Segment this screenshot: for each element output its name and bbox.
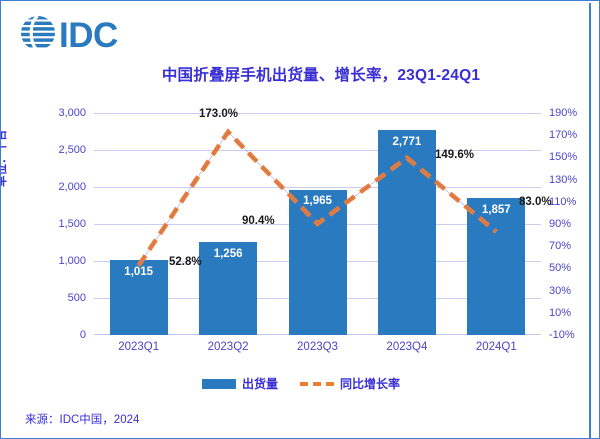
y2-tick-170: 170% xyxy=(549,129,599,141)
x-label-2023Q3: 2023Q3 xyxy=(273,341,363,353)
growth-label-2024Q1: 83.0% xyxy=(519,196,552,208)
legend-item-shipments[interactable]: 出货量 xyxy=(202,375,278,392)
x-label-2024Q1: 2024Q1 xyxy=(451,341,541,353)
legend-dashed-line-swatch-icon xyxy=(300,382,334,386)
plot-area: 1,015 1,256 1,965 2,771 1,857 52.8% 173.… xyxy=(94,113,541,335)
y2-tick-90: 90% xyxy=(549,218,599,230)
y2-tick-neg10: -10% xyxy=(549,329,599,341)
y2-tick-150: 150% xyxy=(549,151,599,163)
chart-page: IDC 中国折叠屏手机出货量、增长率，23Q1-24Q1 单位：千台 3,000… xyxy=(0,0,600,439)
y2-tick-190: 190% xyxy=(549,107,599,119)
growth-label-2023Q3: 90.4% xyxy=(242,215,275,227)
y2-tick-70: 70% xyxy=(549,240,599,252)
growth-rate-line xyxy=(94,113,541,335)
legend-bar-swatch-icon xyxy=(202,379,236,389)
growth-label-2023Q2: 173.0% xyxy=(199,108,238,120)
legend-label-shipments: 出货量 xyxy=(242,375,278,392)
x-label-2023Q1: 2023Q1 xyxy=(94,341,184,353)
growth-label-2023Q4: 149.6% xyxy=(435,149,474,161)
legend-label-growth-rate: 同比增长率 xyxy=(340,375,400,392)
source-note: 来源：IDC中国，2024 xyxy=(25,411,139,427)
y2-tick-50: 50% xyxy=(549,262,599,274)
x-label-2023Q2: 2023Q2 xyxy=(183,341,273,353)
legend-item-growth-rate[interactable]: 同比增长率 xyxy=(300,375,400,392)
y2-tick-30: 30% xyxy=(549,285,599,297)
chart-legend: 出货量 同比增长率 xyxy=(1,375,600,392)
growth-label-2023Q1: 52.8% xyxy=(169,256,202,268)
x-label-2023Q4: 2023Q4 xyxy=(362,341,452,353)
y2-tick-10: 10% xyxy=(549,307,599,319)
y2-tick-130: 130% xyxy=(549,174,599,186)
y2-tick-110: 110% xyxy=(549,196,599,208)
